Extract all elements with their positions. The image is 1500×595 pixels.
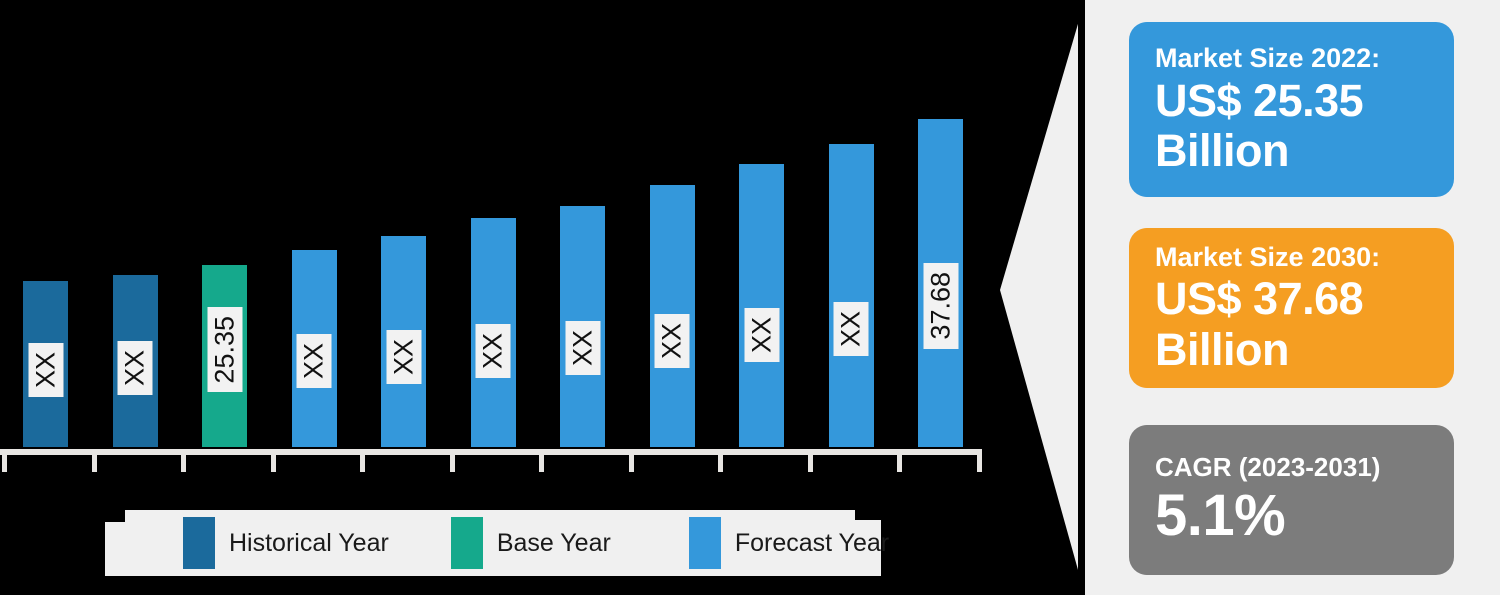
bar-value-label: XX: [744, 308, 779, 362]
chart-panel: XXXX25.35XXXXXXXXXXXXXX37.68 Historical …: [0, 0, 1080, 595]
axis-tick: [808, 455, 813, 472]
stat-card-title: Market Size 2022:: [1155, 42, 1428, 76]
bar-value-text: XX: [659, 323, 686, 359]
stat-card-value: US$ 25.35 Billion: [1155, 76, 1428, 177]
bar-value-text: XX: [390, 339, 417, 375]
bar-value-text: XX: [748, 317, 775, 353]
chevron-divider-icon: [985, 0, 1085, 595]
stat-card-value: US$ 37.68 Billion: [1155, 274, 1428, 375]
bar-value-label: XX: [28, 343, 63, 397]
legend-swatch: [451, 517, 483, 569]
axis-tick: [181, 455, 186, 472]
bar-9: XX: [739, 164, 784, 447]
axis-tick: [360, 455, 365, 472]
bar-value-label: XX: [565, 321, 600, 375]
axis-tick: [629, 455, 634, 472]
bar-1: XX: [23, 281, 68, 447]
legend-item-base-year: Base Year: [451, 517, 611, 569]
legend-swatch: [689, 517, 721, 569]
bar-value-text: XX: [122, 350, 149, 386]
legend-item-forecast-year: Forecast Year: [689, 517, 889, 569]
axis-tick: [897, 455, 902, 472]
axis-tick: [92, 455, 97, 472]
bar-value-label: XX: [655, 314, 690, 368]
stats-panel: Market Size 2022: US$ 25.35 Billion Mark…: [1085, 0, 1500, 595]
stat-card-title: CAGR (2023-2031): [1155, 451, 1428, 484]
stat-card-cagr: CAGR (2023-2031) 5.1%: [1129, 425, 1454, 575]
axis-tick: [718, 455, 723, 472]
axis-tick: [271, 455, 276, 472]
axis-tick: [539, 455, 544, 472]
bar-value-text: XX: [480, 333, 507, 369]
bar-4: XX: [292, 250, 337, 447]
bar-value-text: 37.68: [927, 272, 954, 340]
bar-6: XX: [471, 218, 516, 447]
bar-value-text: XX: [32, 352, 59, 388]
bar-value-label: XX: [834, 302, 869, 356]
bar-value-text: XX: [301, 343, 328, 379]
legend-swatch: [183, 517, 215, 569]
bar-rect: [829, 144, 874, 447]
bar-5: XX: [381, 236, 426, 447]
bar-rect: [739, 164, 784, 447]
bar-11: 37.68: [918, 119, 963, 447]
bar-2: XX: [113, 275, 158, 447]
bar-8: XX: [650, 185, 695, 447]
stat-card-market-size-2030: Market Size 2030: US$ 37.68 Billion: [1129, 228, 1454, 388]
stat-card-value: 5.1%: [1155, 484, 1428, 549]
legend-label: Historical Year: [229, 529, 389, 558]
bar-value-label: XX: [476, 324, 511, 378]
axis-tick: [2, 455, 7, 472]
bar-value-text: XX: [838, 311, 865, 347]
bar-value-label: XX: [297, 334, 332, 388]
legend-items: Historical YearBase YearForecast Year: [105, 510, 881, 576]
chart-legend: Historical YearBase YearForecast Year: [105, 510, 881, 576]
bar-value-label: 25.35: [207, 307, 242, 393]
bar-value-label: XX: [386, 330, 421, 384]
stat-card-title: Market Size 2030:: [1155, 241, 1428, 275]
axis-tick: [977, 455, 982, 472]
bar-value-label: XX: [118, 341, 153, 395]
legend-item-historical-year: Historical Year: [183, 517, 389, 569]
legend-label: Base Year: [497, 529, 611, 558]
bar-value-label: 37.68: [923, 263, 958, 349]
stat-card-market-size-2022: Market Size 2022: US$ 25.35 Billion: [1129, 22, 1454, 197]
bar-10: XX: [829, 144, 874, 447]
axis-tick: [450, 455, 455, 472]
panel-divider: [1078, 0, 1085, 595]
legend-label: Forecast Year: [735, 529, 889, 558]
x-axis: [0, 449, 982, 455]
bar-value-text: XX: [569, 330, 596, 366]
bar-3: 25.35: [202, 265, 247, 447]
bar-value-text: 25.35: [211, 316, 238, 384]
bar-7: XX: [560, 206, 605, 447]
